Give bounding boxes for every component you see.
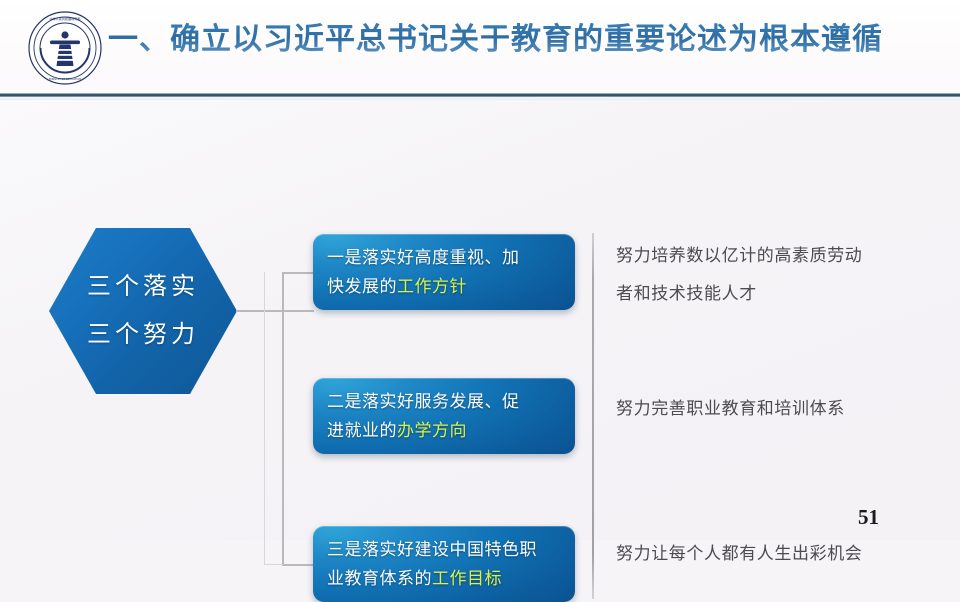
content-box-1-line-1: 一是落实好高度重视、加 <box>327 243 561 272</box>
connector-secondary-foot <box>264 564 283 565</box>
connector-branch-box-3 <box>282 564 314 566</box>
vertical-divider <box>592 233 594 599</box>
right-text-1: 努力培养数以亿计的高素质劳动 者和技术技能人才 <box>616 237 946 313</box>
institution-seal-logo: 中华人民共和国教育部 MINISTRY OF EDUCATION <box>26 9 104 87</box>
connector-vertical-trunk <box>282 272 284 565</box>
content-box-3[interactable]: 三是落实好建设中国特色职 业教育体系的工作目标 <box>313 526 575 602</box>
content-box-1-line-2: 快发展的工作方针 <box>327 272 561 301</box>
connector-hexagon-stem <box>236 310 283 312</box>
right-text-2: 努力完善职业教育和培训体系 <box>616 390 946 428</box>
right-text-1-line-2: 者和技术技能人才 <box>616 275 946 313</box>
hexagon-node-three-implementations[interactable]: 三个落实 三个努力 <box>49 228 237 394</box>
content-box-3-highlight: 工作目标 <box>432 569 502 588</box>
content-box-2-line-1: 二是落实好服务发展、促 <box>327 387 561 416</box>
content-box-1-line-2-plain: 快发展的 <box>327 277 397 296</box>
content-box-2-line-2: 进就业的办学方向 <box>327 416 561 445</box>
content-box-1[interactable]: 一是落实好高度重视、加 快发展的工作方针 <box>313 234 575 310</box>
svg-text:MINISTRY OF EDUCATION: MINISTRY OF EDUCATION <box>49 77 82 81</box>
connector-branch-box-1 <box>282 272 314 274</box>
right-text-1-line-1: 努力培养数以亿计的高素质劳动 <box>616 237 946 275</box>
header-divider-rule <box>0 93 960 97</box>
content-box-2[interactable]: 二是落实好服务发展、促 进就业的办学方向 <box>313 378 575 454</box>
svg-text:中华人民共和国教育部: 中华人民共和国教育部 <box>50 16 81 21</box>
slide-header: 中华人民共和国教育部 MINISTRY OF EDUCATION 一、确立以习近… <box>0 0 960 96</box>
page-title: 一、确立以习近平总书记关于教育的重要论述为根本遵循 <box>108 17 883 63</box>
diagram-canvas: 三个落实 三个努力 一是落实好高度重视、加 快发展的工作方针 二是落实好服务发展… <box>0 100 960 540</box>
right-text-3: 努力让每个人都有人生出彩机会 <box>616 535 946 573</box>
connector-branch-box-2 <box>282 310 314 312</box>
content-box-3-line-1: 三是落实好建设中国特色职 <box>327 535 561 564</box>
content-box-3-line-2-plain: 业教育体系的 <box>327 569 432 588</box>
right-text-3-line-1: 努力让每个人都有人生出彩机会 <box>616 535 946 573</box>
connector-secondary-trunk <box>264 272 265 565</box>
content-box-1-highlight: 工作方针 <box>397 277 467 296</box>
content-box-3-line-2: 业教育体系的工作目标 <box>327 564 561 593</box>
hexagon-line-1: 三个落实 <box>87 263 199 311</box>
hexagon-line-2: 三个努力 <box>87 311 199 359</box>
content-box-2-highlight: 办学方向 <box>397 421 467 440</box>
right-text-2-line-1: 努力完善职业教育和培训体系 <box>616 390 946 428</box>
content-box-2-line-2-plain: 进就业的 <box>327 421 397 440</box>
page-number: 51 <box>858 505 879 530</box>
